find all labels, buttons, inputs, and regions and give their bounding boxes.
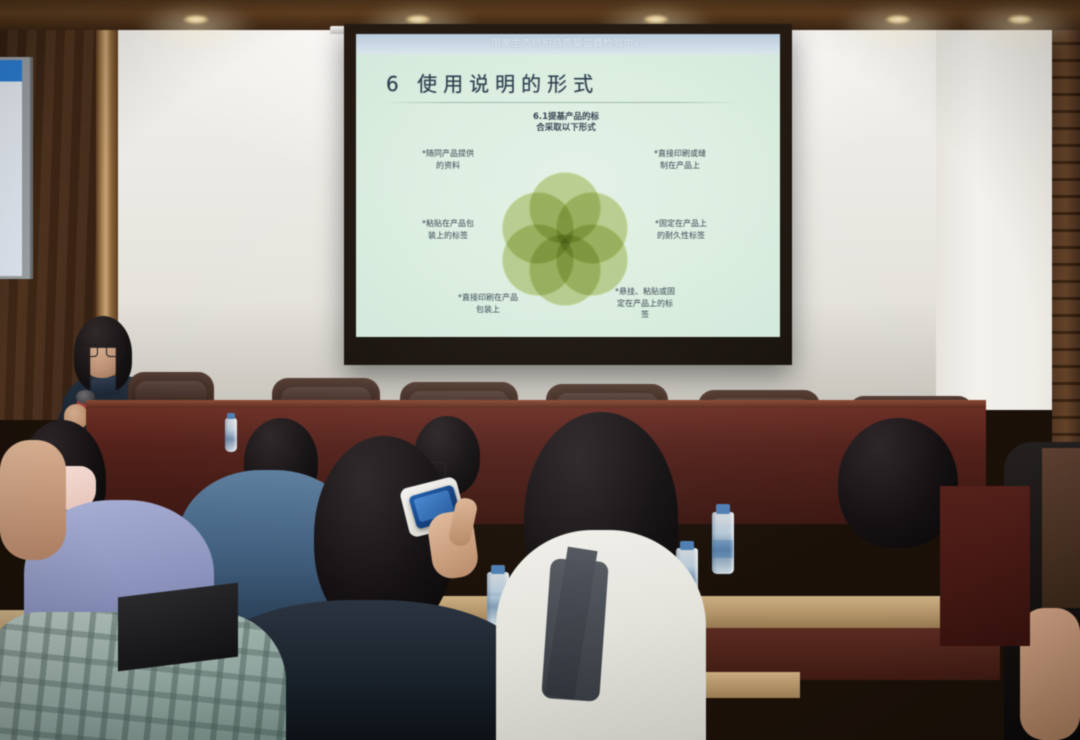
water-bottle (225, 418, 237, 452)
wall-display-screen (0, 60, 22, 276)
right-wall (936, 8, 1054, 410)
slide-bullet-5: *直接印刷在产品 包装上 (434, 292, 542, 315)
slide-bullet-6: *悬挂、粘贴或固 定在产品上的标 签 (592, 286, 698, 321)
head-table-edge (86, 400, 986, 408)
slide-subtitle-line-2: 合采取以下形式 (506, 123, 626, 134)
slide-bullet-2: *直接印刷或缝 制在产品上 (628, 148, 732, 171)
side-cabinet (940, 486, 1030, 646)
bottle-cap (491, 565, 505, 574)
overlapping-circles-diagram (498, 172, 630, 304)
downlight-icon (1007, 15, 1033, 24)
downlight-icon (885, 15, 911, 24)
slide-bullet-1-line-2: 的资料 (400, 160, 496, 172)
slide-bullet-6-line-3: 签 (592, 309, 698, 321)
slide-bullet-2-line-1: *直接印刷或缝 (628, 148, 732, 160)
slide-bullet-4-line-2: 的耐久性标签 (626, 230, 736, 242)
audience-right-hair (1042, 448, 1080, 608)
slide-bullet-2-line-2: 制在产品上 (628, 160, 732, 172)
downlight-glow (136, 4, 256, 50)
downlight-icon (643, 15, 669, 24)
slide-body: 6 使用说明的形式 6.1提基产品的标 合采取以下形式 *随同产品提供 的资料 (356, 54, 780, 337)
downlight-icon (183, 15, 209, 24)
slide-bullet-4-line-1: *固定在产品上 (626, 218, 736, 230)
slide-title: 6 使用说明的形式 (386, 68, 599, 97)
slide-bullet-1-line-1: *随同产品提供 (400, 148, 496, 160)
bottle-cap (227, 413, 235, 419)
slide-subtitle: 6.1提基产品的标 合采取以下形式 (506, 112, 626, 134)
slide-bullet-1: *随同产品提供 的资料 (400, 148, 496, 171)
bottle-cap (680, 541, 694, 550)
downlight-icon (405, 15, 431, 24)
laptop[interactable] (118, 583, 238, 672)
slide-bullet-4: *固定在产品上 的耐久性标签 (626, 218, 736, 241)
audience-overall-bib (541, 558, 609, 702)
slide-bullet-5-line-1: *直接印刷在产品 (434, 292, 542, 304)
slide-bullet-3-line-1: *粘贴在产品包 (396, 218, 500, 230)
right-slatted-wood-wall (1052, 0, 1080, 470)
slide-bullet-3-line-2: 装上的标签 (396, 230, 500, 242)
slide-bullet-6-line-1: *悬挂、粘贴或固 (592, 286, 698, 298)
slide-bullet-6-line-2: 定在产品上的标 (592, 298, 698, 310)
audience-arm (0, 440, 66, 560)
downlight-glow (838, 4, 958, 50)
bottle-label (713, 540, 733, 558)
downlight-glow (960, 4, 1080, 50)
glasses-icon (80, 344, 122, 355)
slide-header-title: 国家生态纺织品质量监督检验中心 (356, 36, 780, 49)
bottle-cap (716, 504, 730, 514)
slide-title-divider (382, 102, 738, 103)
slide-bullet-3: *粘贴在产品包 装上的标签 (396, 218, 500, 241)
slide-bullet-5-line-2: 包装上 (434, 304, 542, 316)
projection-screen[interactable]: 国家生态纺织品质量监督检验中心 6 使用说明的形式 6.1提基产品的标 合采取以… (356, 34, 780, 337)
conference-room-photo: 国家生态纺织品质量监督检验中心 6 使用说明的形式 6.1提基产品的标 合采取以… (0, 0, 1080, 740)
slide-subtitle-line-1: 6.1提基产品的标 (506, 112, 626, 123)
